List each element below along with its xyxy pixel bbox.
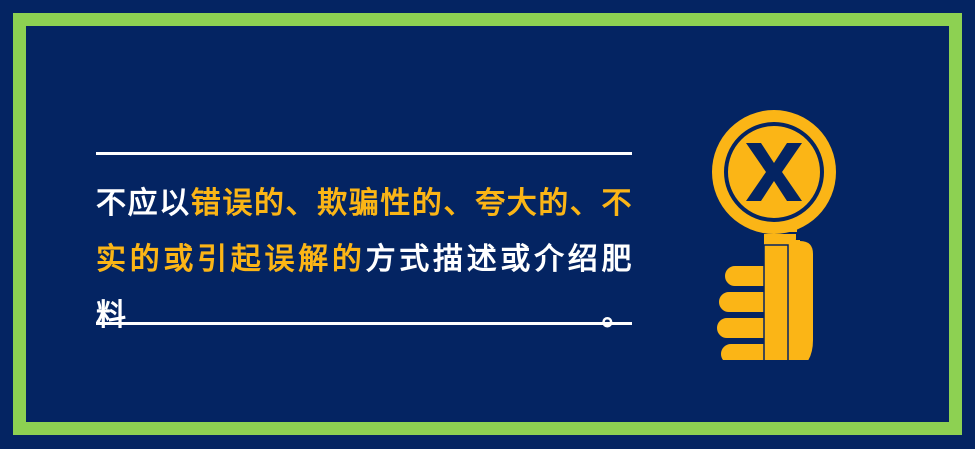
divider-rule-top <box>96 152 632 155</box>
magnifier-handle-front <box>764 245 788 360</box>
headline-block: 不应以错误的、欺骗性的、夸大的、不实的或引起误解的方式描述或介绍肥料。 <box>96 152 632 325</box>
slide-canvas: 不应以错误的、欺骗性的、夸大的、不实的或引起误解的方式描述或介绍肥料。 <box>0 0 975 449</box>
headline-segment-white-1: 不应以 <box>96 187 191 220</box>
headline-text: 不应以错误的、欺骗性的、夸大的、不实的或引起误解的方式描述或介绍肥料。 <box>96 176 632 344</box>
magnifier-x-in-hand-icon <box>690 95 870 360</box>
divider-rule-bottom <box>96 322 632 325</box>
